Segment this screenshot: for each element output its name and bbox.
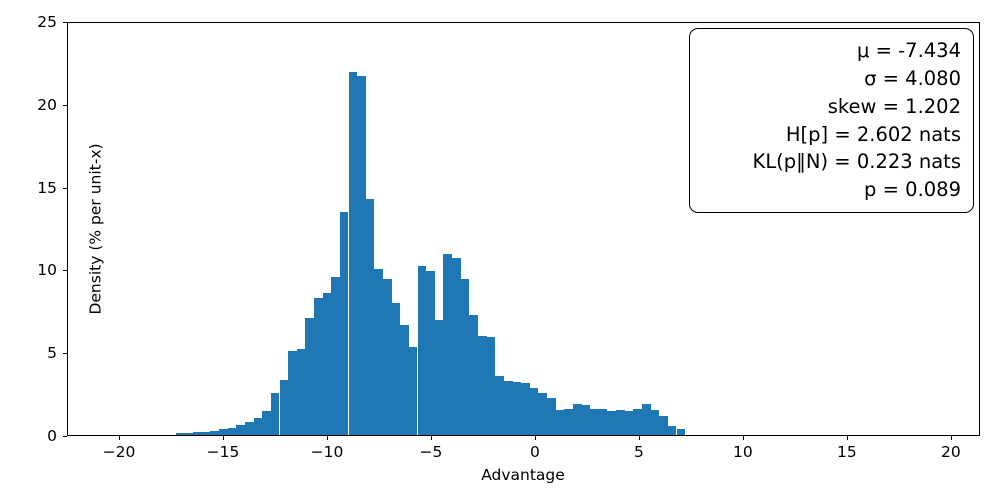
histogram-bar — [478, 336, 487, 435]
histogram-bar — [573, 404, 582, 435]
histogram-bar — [305, 318, 314, 435]
histogram-bar — [487, 337, 496, 435]
histogram-bar — [418, 266, 427, 435]
stat-skew: skew = 1.202 — [828, 93, 961, 121]
histogram-bar — [366, 199, 375, 435]
x-tick-mark — [951, 436, 952, 440]
histogram-bar — [236, 425, 245, 435]
histogram-bar — [426, 271, 435, 435]
histogram-bar — [374, 269, 383, 435]
x-tick-mark — [743, 436, 744, 440]
histogram-bar — [659, 416, 668, 435]
histogram-bar — [443, 254, 452, 435]
histogram-bar — [280, 380, 289, 435]
histogram-bar — [538, 393, 547, 435]
histogram-bar — [202, 432, 211, 435]
x-tick-label: 20 — [941, 443, 961, 461]
y-tick-label: 25 — [37, 13, 57, 31]
x-tick-mark — [119, 436, 120, 440]
histogram-bar — [495, 376, 504, 435]
y-tick-mark — [63, 270, 67, 271]
stat-stddev: σ = 4.080 — [864, 65, 961, 93]
histogram-bar — [452, 258, 461, 435]
stat-mean: μ = -7.434 — [857, 37, 961, 65]
y-tick-mark — [63, 353, 67, 354]
stat-entropy: H[p] = 2.602 nats — [786, 121, 961, 149]
y-tick-mark — [63, 436, 67, 437]
histogram-figure: −20−15−10−505101520 0510152025 Advantage… — [0, 0, 997, 498]
histogram-bar — [504, 381, 513, 435]
histogram-bar — [340, 212, 349, 435]
histogram-bar — [530, 388, 539, 435]
histogram-bar — [590, 409, 599, 435]
histogram-bar — [581, 405, 590, 435]
histogram-bar — [193, 432, 202, 435]
x-tick-label: 15 — [837, 443, 857, 461]
histogram-bar — [625, 411, 634, 435]
histogram-bar — [642, 404, 651, 435]
x-tick-mark — [535, 436, 536, 440]
stat-kl: KL(p‖N) = 0.223 nats — [753, 148, 961, 176]
histogram-bar — [323, 293, 332, 435]
histogram-bar — [651, 410, 660, 435]
histogram-bar — [469, 315, 478, 435]
histogram-bar — [633, 409, 642, 436]
histogram-bar — [331, 277, 340, 435]
histogram-bar — [262, 411, 271, 435]
x-tick-label: 10 — [733, 443, 753, 461]
y-tick-mark — [63, 188, 67, 189]
histogram-bar — [383, 279, 392, 435]
histogram-bar — [392, 303, 401, 435]
x-tick-mark — [431, 436, 432, 440]
histogram-bar — [228, 428, 237, 435]
histogram-bar — [400, 325, 409, 435]
y-tick-mark — [63, 105, 67, 106]
x-tick-label: 0 — [530, 443, 540, 461]
histogram-bar — [314, 298, 323, 435]
histogram-bar — [210, 431, 219, 435]
histogram-bar — [547, 398, 556, 435]
histogram-bar — [288, 351, 297, 435]
histogram-bar — [184, 433, 193, 435]
x-tick-label: −10 — [311, 443, 344, 461]
histogram-bar — [512, 382, 521, 435]
histogram-bar — [599, 409, 608, 436]
x-tick-mark — [639, 436, 640, 440]
x-tick-label: 5 — [634, 443, 644, 461]
x-tick-mark — [327, 436, 328, 440]
histogram-bar — [409, 347, 418, 435]
x-axis-label: Advantage — [481, 466, 565, 484]
stat-pvalue: p = 0.089 — [864, 176, 961, 204]
histogram-bar — [556, 410, 565, 435]
y-tick-mark — [63, 22, 67, 23]
y-tick-label: 10 — [37, 261, 57, 279]
y-axis-label: Density (% per unit-x) — [87, 143, 105, 314]
histogram-bar — [297, 349, 306, 435]
histogram-bar — [245, 422, 254, 435]
x-tick-label: −15 — [207, 443, 240, 461]
histogram-bar — [677, 429, 686, 435]
histogram-bar — [607, 411, 616, 435]
y-tick-label: 0 — [47, 427, 57, 445]
histogram-bar — [176, 433, 185, 435]
histogram-bar — [616, 410, 625, 435]
histogram-bar — [435, 320, 444, 435]
histogram-bar — [271, 393, 280, 435]
x-tick-mark — [847, 436, 848, 440]
histogram-bar — [357, 76, 366, 435]
y-tick-label: 20 — [37, 96, 57, 114]
histogram-bar — [349, 72, 358, 435]
histogram-bar — [461, 279, 470, 435]
x-tick-mark — [223, 436, 224, 440]
histogram-bar — [219, 429, 228, 435]
histogram-bar — [668, 426, 677, 435]
y-tick-label: 5 — [47, 344, 57, 362]
x-tick-label: −5 — [420, 443, 443, 461]
y-tick-label: 15 — [37, 179, 57, 197]
histogram-bar — [564, 409, 573, 435]
x-tick-label: −20 — [103, 443, 136, 461]
statistics-box: μ = -7.434 σ = 4.080 skew = 1.202 H[p] =… — [689, 28, 974, 213]
histogram-bar — [521, 383, 530, 435]
histogram-bar — [254, 418, 263, 435]
